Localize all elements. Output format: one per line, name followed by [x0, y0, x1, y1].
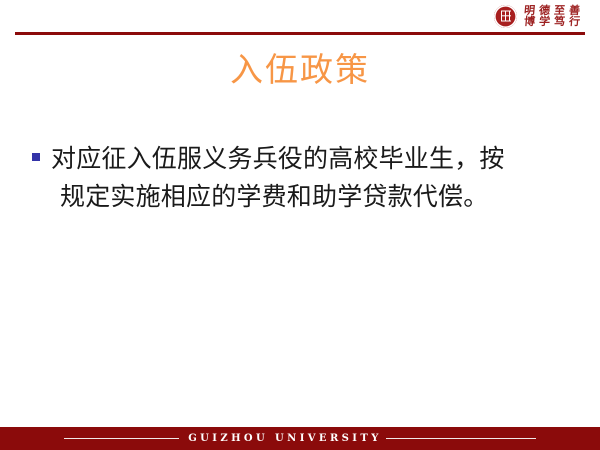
- slide-body: 对应征入伍服义务兵役的高校毕业生，按 规定实施相应的学费和助学贷款代偿。: [32, 140, 572, 216]
- footer-label: GUIZHOU UNIVERSITY: [188, 433, 382, 444]
- square-bullet-icon: [32, 153, 40, 161]
- university-seal-icon: [494, 5, 517, 28]
- list-item-text: 对应征入伍服义务兵役的高校毕业生，按 规定实施相应的学费和助学贷款代偿。: [51, 140, 572, 216]
- university-brand: 明德至善 博学笃行: [494, 2, 584, 30]
- header-divider: [15, 32, 585, 35]
- list-item-line-2: 规定实施相应的学费和助学贷款代偿。: [51, 178, 572, 216]
- list-item: 对应征入伍服义务兵役的高校毕业生，按 规定实施相应的学费和助学贷款代偿。: [32, 140, 572, 216]
- footer-rule-right: [386, 438, 536, 440]
- page-title: 入伍政策: [0, 50, 600, 90]
- slide-footer: GUIZHOU UNIVERSITY: [0, 427, 600, 450]
- slide-canvas: 明德至善 博学笃行 入伍政策 对应征入伍服义务兵役的高校毕业生，按 规定实施相应…: [0, 0, 600, 450]
- university-motto: 明德至善 博学笃行: [524, 5, 584, 27]
- motto-line-2: 博学笃行: [524, 16, 585, 27]
- footer-rule-left: [64, 438, 179, 440]
- list-item-line-1: 对应征入伍服义务兵役的高校毕业生，按: [51, 140, 572, 178]
- slide-header: 明德至善 博学笃行: [0, 0, 600, 36]
